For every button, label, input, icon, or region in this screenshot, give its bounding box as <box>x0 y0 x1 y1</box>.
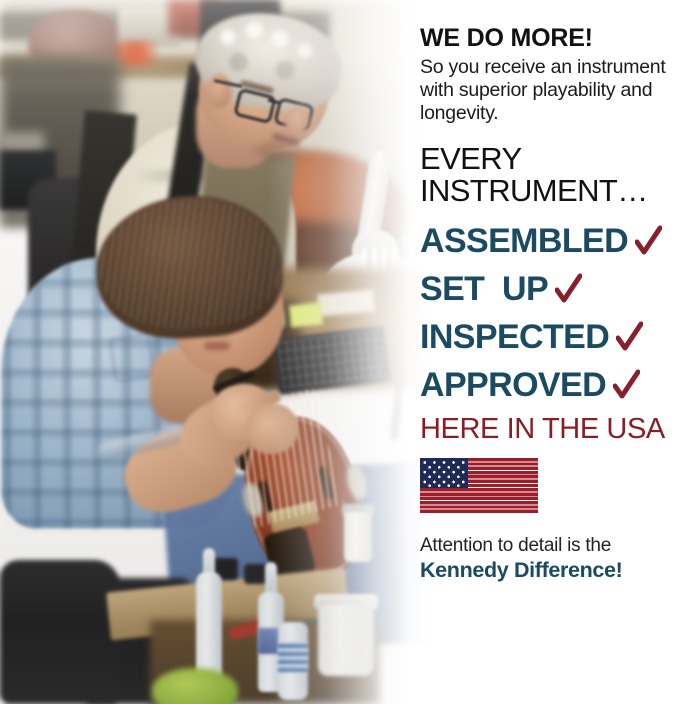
photo-white-fade-gradient <box>0 0 430 704</box>
promo-banner: WE DO MORE! So you receive an instrument… <box>0 0 679 704</box>
checklist-item-approved: APPROVED <box>420 361 679 409</box>
checklist-label: ASSEMBLED <box>420 224 628 258</box>
checklist-label: APPROVED <box>420 368 606 402</box>
united-states-flag-icon <box>420 458 538 514</box>
check-mark-icon <box>635 225 662 257</box>
check-mark-icon <box>616 321 643 353</box>
checklist-label: INSPECTED <box>420 320 609 354</box>
quality-checklist: ASSEMBLED SET UP INSPECTED APPROVED <box>420 217 679 409</box>
every-instrument-heading: EVERY INSTRUMENT… <box>420 143 679 207</box>
origin-text: HERE IN THE USA <box>420 415 679 444</box>
checklist-item-set-up: SET UP <box>420 265 679 313</box>
tagline-line-1: Attention to detail is the <box>420 536 679 557</box>
checklist-item-inspected: INSPECTED <box>420 313 679 361</box>
checklist-label: SET UP <box>420 272 548 306</box>
checklist-item-assembled: ASSEMBLED <box>420 217 679 265</box>
subheadline: So you receive an instrument with superi… <box>420 56 679 124</box>
check-mark-icon <box>613 369 640 401</box>
every-instrument-line-1: EVERY <box>420 143 679 175</box>
tagline-line-2: Kennedy Difference! <box>420 559 679 583</box>
every-instrument-line-2: INSTRUMENT… <box>420 175 679 207</box>
promo-text-panel: WE DO MORE! So you receive an instrument… <box>420 0 679 704</box>
headline: WE DO MORE! <box>420 26 679 51</box>
flag-stars <box>420 458 468 488</box>
workshop-photo <box>0 0 430 704</box>
check-mark-icon <box>555 273 582 305</box>
